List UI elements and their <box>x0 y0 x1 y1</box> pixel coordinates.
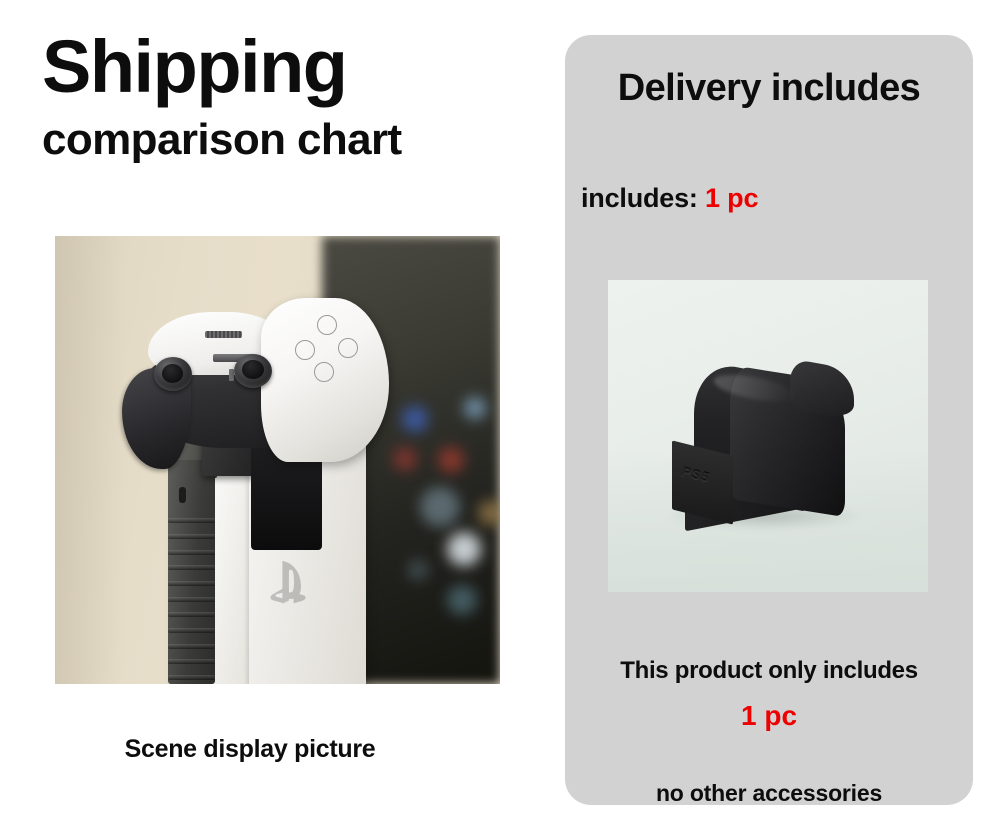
product-contents-quantity: 1 pc <box>565 700 973 732</box>
wall-shadow <box>55 236 126 684</box>
includes-quantity-badge: 1 pc <box>705 183 758 213</box>
scene-display-caption: Scene display picture <box>0 735 500 764</box>
scene-display-photo: PS5 <box>55 236 500 684</box>
bokeh-teal-icon <box>447 585 477 615</box>
delivery-panel-title: Delivery includes <box>565 67 973 110</box>
controller-square-button-icon <box>295 340 315 360</box>
product-contents-note: This product only includes <box>565 657 973 685</box>
controller-ps-home-button-icon <box>229 369 234 381</box>
page-title-line-2: comparison chart <box>42 118 542 162</box>
controller-left-stick <box>154 357 192 391</box>
bokeh-steel-icon <box>420 487 460 527</box>
controller-circle-button-icon <box>338 338 358 358</box>
includes-summary: includes: 1 pc <box>581 183 758 214</box>
controller-speaker-grille-icon <box>205 331 242 338</box>
playstation-logo-icon <box>265 557 311 609</box>
no-accessories-note: no other accessories <box>565 780 973 807</box>
page-title: Shipping comparison chart <box>42 30 542 162</box>
bokeh-red-icon <box>393 447 417 471</box>
bokeh-white-icon <box>447 532 481 566</box>
bokeh-amber-icon <box>478 500 500 526</box>
console-side-panel <box>210 474 249 684</box>
controller-triangle-button-icon <box>317 315 337 335</box>
vent-port-icon <box>179 487 186 503</box>
dualsense-controller <box>122 294 389 469</box>
bokeh-red2-icon <box>438 447 464 473</box>
controller-right-stick <box>234 354 272 388</box>
includes-label: includes: <box>581 183 698 213</box>
delivery-includes-panel: Delivery includes includes: 1 pc PS5 Thi… <box>565 35 973 805</box>
console-vent <box>168 460 215 684</box>
product-photo: PS5 <box>608 280 928 592</box>
page-title-line-1: Shipping <box>42 30 542 104</box>
shipping-comparison-left-column: Shipping comparison chart <box>0 0 560 835</box>
bokeh-slate-icon <box>407 559 429 581</box>
